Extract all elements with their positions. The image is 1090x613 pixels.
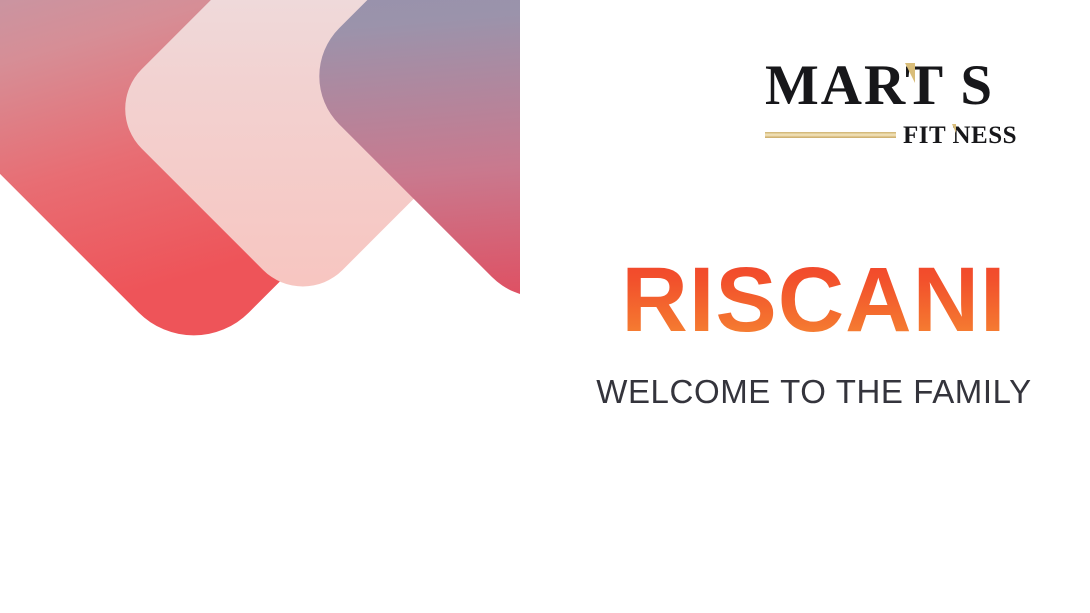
large-coral-diamond <box>0 0 484 368</box>
logo-wordmark: MART S <box>765 55 1025 117</box>
decorative-shape-cluster <box>0 0 520 613</box>
content-column: MART S FIT NESS RISCANI WELCOME TO THE F… <box>530 0 1090 613</box>
brand-logo: MART S FIT NESS <box>765 55 1025 160</box>
logo-tagline: FIT NESS <box>903 121 1017 151</box>
bottom-slate-rose-diamond <box>291 0 520 325</box>
small-pale-pink-diamond <box>102 0 504 310</box>
subtitle: WELCOME TO THE FAMILY <box>538 371 1090 413</box>
slide-canvas: MART S FIT NESS RISCANI WELCOME TO THE F… <box>0 0 1090 613</box>
logo-tagline-row: FIT NESS <box>765 121 1025 151</box>
gold-triangle-apostrophe-icon <box>905 63 915 83</box>
gold-rule-icon <box>765 132 896 138</box>
decor-svg <box>0 0 520 613</box>
gold-tick-icon <box>952 124 956 133</box>
page-title: RISCANI <box>538 248 1090 352</box>
